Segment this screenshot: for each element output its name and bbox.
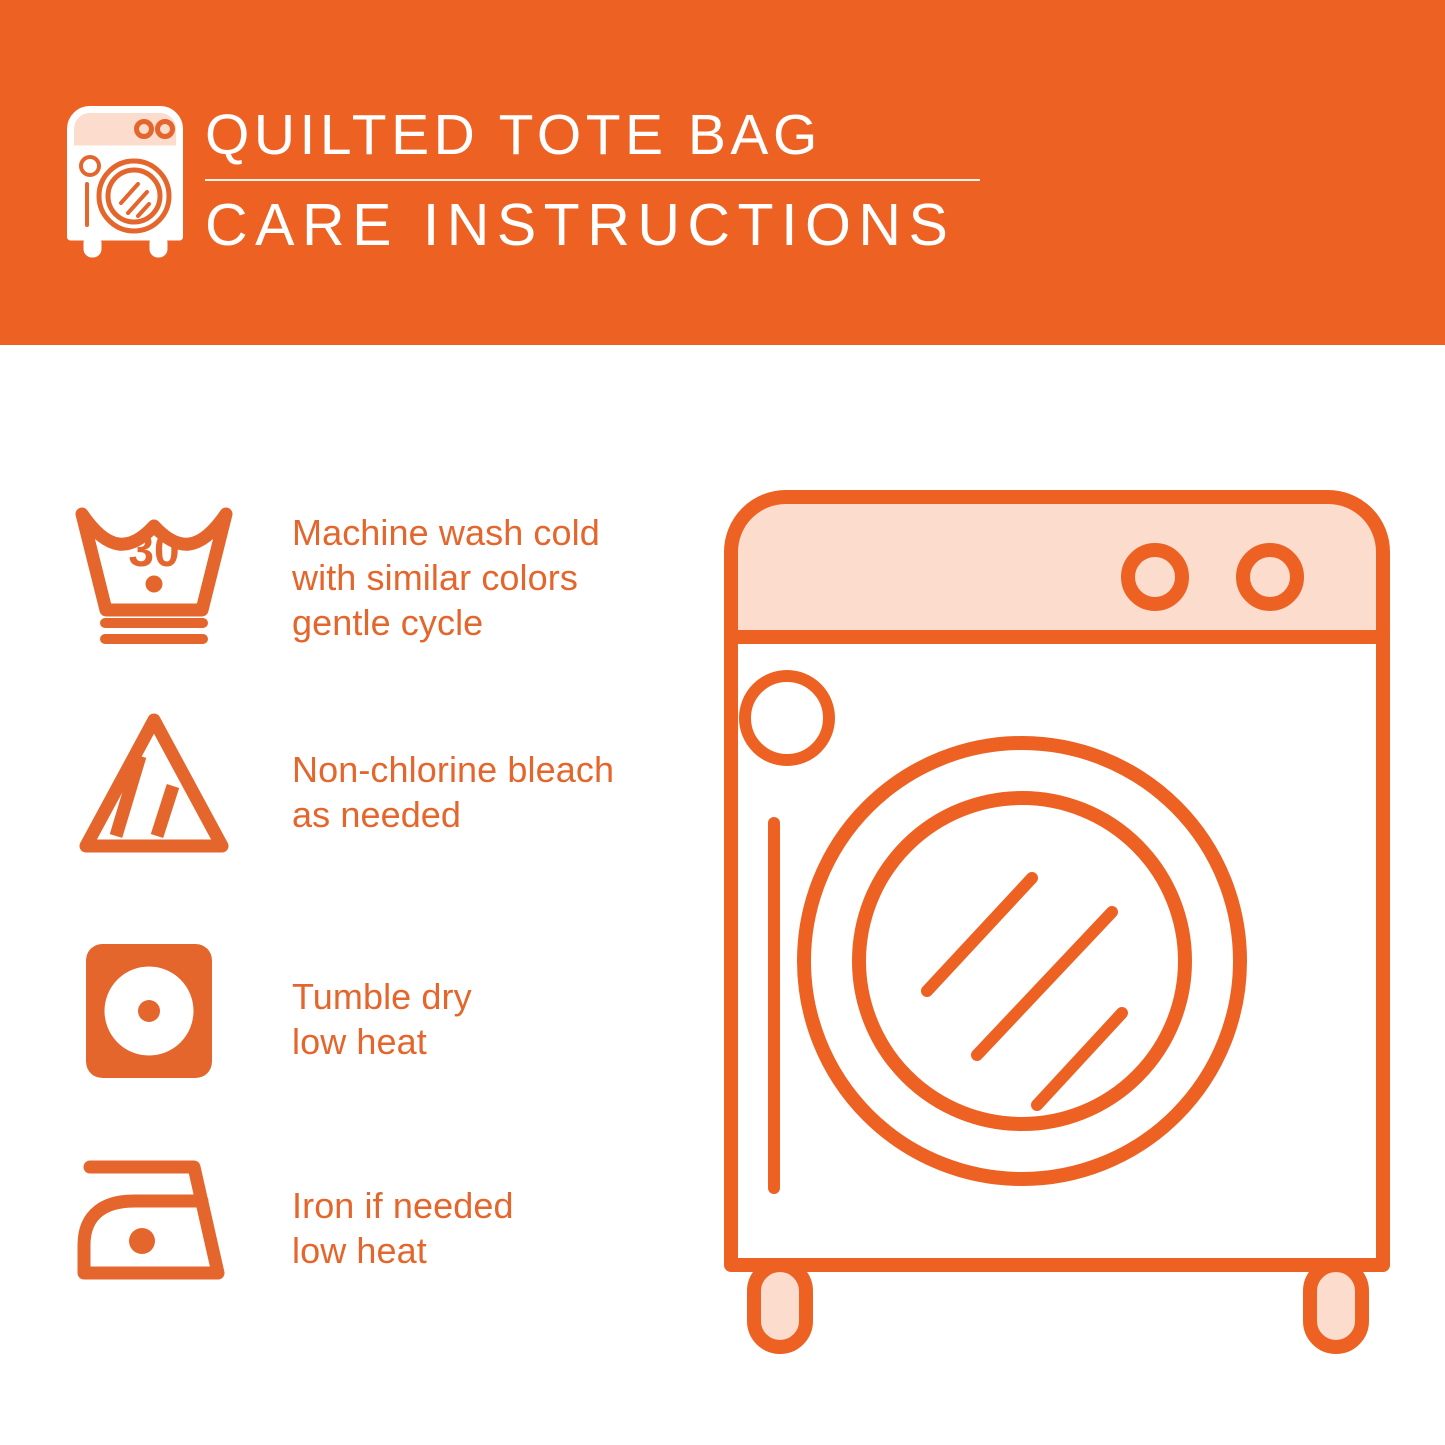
care-text-iron: Iron if needed low heat bbox=[292, 1183, 514, 1273]
care-text-wash: Machine wash cold with similar colors ge… bbox=[292, 510, 600, 645]
care-instructions-page: QUILTED TOTE BAG CARE INSTRUCTIONS 30 Ma… bbox=[0, 0, 1445, 1445]
iron-icon bbox=[72, 1145, 236, 1300]
care-instructions-list: 30 Machine wash cold with similar colors… bbox=[0, 345, 700, 1445]
page-subtitle: CARE INSTRUCTIONS bbox=[205, 192, 995, 258]
care-text-tumble-dry: Tumble dry low heat bbox=[292, 974, 472, 1064]
svg-text:30: 30 bbox=[128, 524, 179, 576]
care-text-bleach: Non-chlorine bleach as needed bbox=[292, 747, 614, 837]
header-text-block: QUILTED TOTE BAG CARE INSTRUCTIONS bbox=[205, 104, 995, 258]
title-divider bbox=[205, 179, 980, 181]
bleach-triangle-icon bbox=[72, 708, 236, 863]
washing-machine-illustration bbox=[712, 478, 1402, 1368]
wash-basin-icon: 30 bbox=[72, 500, 236, 655]
washing-machine-icon bbox=[64, 103, 186, 258]
page-title: QUILTED TOTE BAG bbox=[205, 104, 995, 166]
tumble-dry-icon bbox=[72, 936, 236, 1091]
header-banner: QUILTED TOTE BAG CARE INSTRUCTIONS bbox=[0, 0, 1445, 345]
